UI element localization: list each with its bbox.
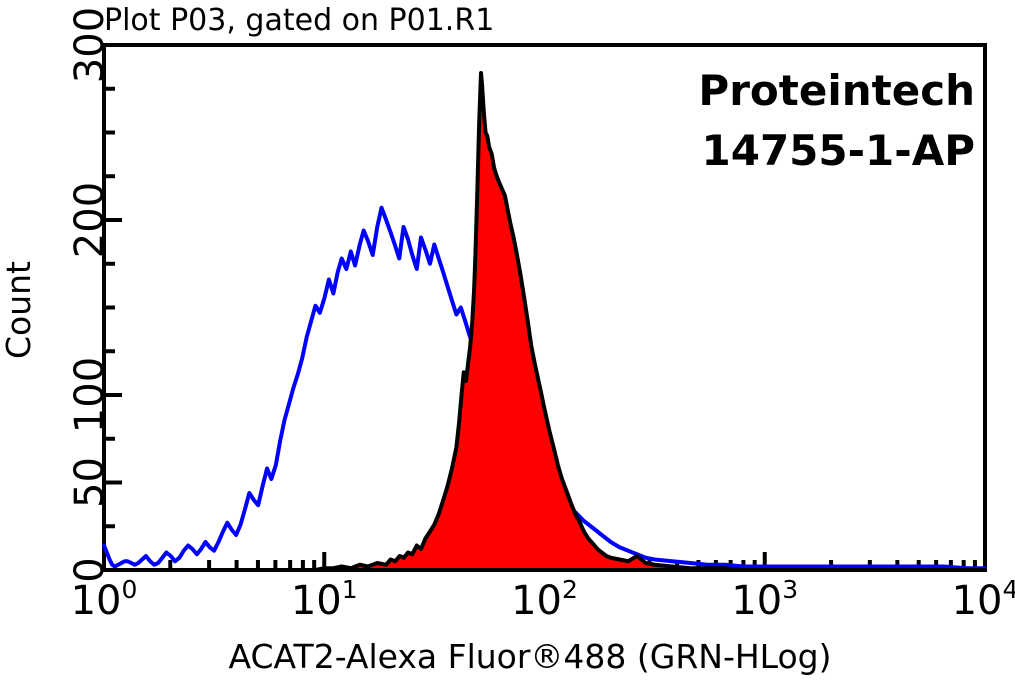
y-axis-label: Count	[0, 261, 38, 359]
watermark-brand: Proteintech	[698, 66, 975, 115]
flow-cytometry-histogram-figure: 100101102103104050100200300 Plot P03, ga…	[0, 0, 1015, 682]
y-tick-label: 50	[67, 457, 113, 508]
plot-canvas: 100101102103104050100200300 Plot P03, ga…	[0, 0, 1015, 682]
y-tick-label: 200	[67, 182, 113, 258]
plot-title: Plot P03, gated on P01.R1	[104, 3, 494, 38]
x-axis-label: ACAT2-Alexa Fluor®488 (GRN-HLog)	[229, 637, 832, 676]
y-tick-label: 100	[67, 357, 113, 433]
watermark-catalog-number: 14755-1-AP	[702, 126, 976, 175]
